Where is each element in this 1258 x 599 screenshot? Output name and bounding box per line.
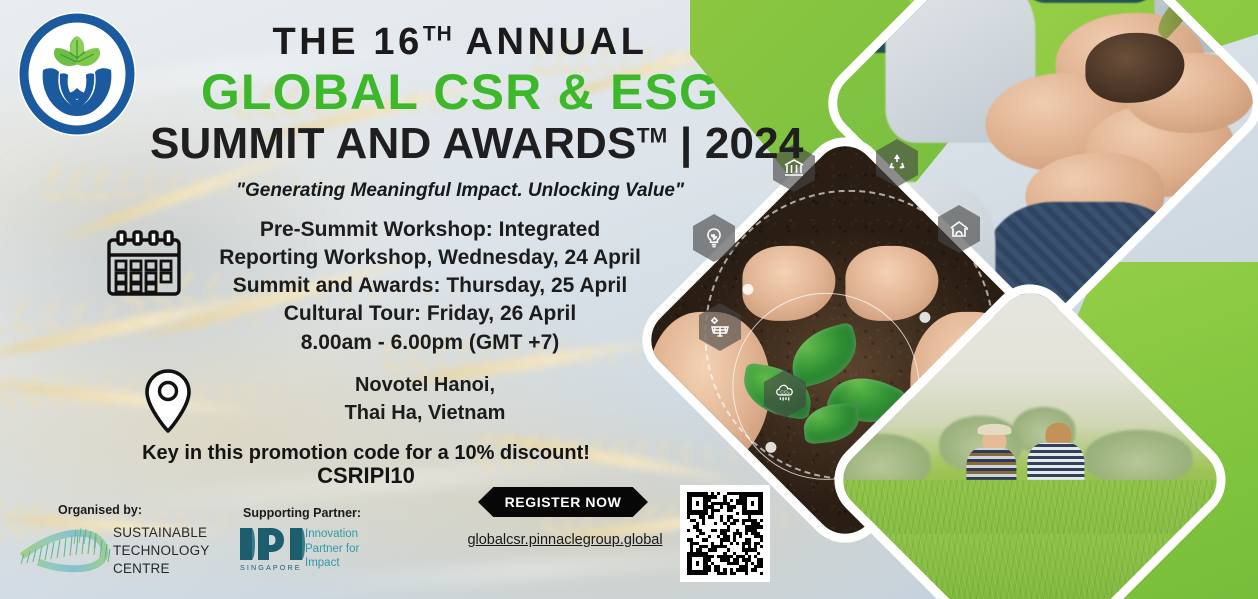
promotion-code: CSRIPI10	[110, 463, 622, 489]
pretitle-text: THE 16	[272, 21, 422, 63]
calendar-icon	[100, 228, 188, 300]
ipi-tagline-line-1: Innovation	[305, 527, 359, 542]
qr-module	[702, 532, 705, 535]
qr-module	[736, 542, 739, 545]
organiser-name-line-3: CENTRE	[113, 560, 210, 578]
qr-module	[760, 538, 763, 541]
qr-module	[760, 565, 763, 568]
svg-text:SINGAPORE: SINGAPORE	[240, 563, 302, 572]
qr-module	[702, 522, 705, 525]
title-year: | 2024	[667, 119, 803, 168]
qr-module	[696, 535, 699, 538]
schedule-line-4: Cultural Tour: Friday, 26 April	[190, 300, 670, 328]
qr-module	[687, 529, 690, 532]
location-pin-icon	[140, 368, 196, 434]
qr-module	[711, 555, 714, 558]
qr-module	[727, 548, 730, 551]
qr-module	[705, 538, 708, 541]
qr-module	[720, 505, 723, 508]
event-tagline: "Generating Meaningful Impact. Unlocking…	[150, 180, 770, 202]
qr-module	[714, 495, 717, 498]
ipi-tagline-line-3: Impact	[305, 556, 359, 571]
qr-module	[708, 568, 711, 571]
schedule-line-2: Reporting Workshop, Wednesday, 24 April	[190, 244, 670, 272]
hands-and-leaves-emblem	[16, 10, 138, 138]
venue-line-1: Novotel Hanoi,	[225, 372, 625, 400]
trademark-mark: TM	[637, 125, 668, 148]
qr-module	[717, 492, 720, 495]
schedule-line-5: 8.00am - 6.00pm (GMT +7)	[190, 329, 670, 357]
ipi-tagline: Innovation Partner for Impact	[305, 527, 359, 571]
qr-module	[736, 519, 739, 522]
qr-code[interactable]	[680, 485, 770, 582]
qr-module	[760, 519, 763, 522]
register-now-button[interactable]: REGISTER NOW	[478, 487, 648, 517]
pretitle-ordinal: TH	[423, 22, 453, 45]
qr-module	[714, 529, 717, 532]
qr-module	[745, 532, 748, 535]
qr-module	[745, 572, 748, 575]
qr-module	[760, 572, 763, 575]
event-title-green: GLOBAL CSR & ESG	[150, 64, 770, 120]
venue-block: Novotel Hanoi, Thai Ha, Vietnam	[225, 372, 625, 427]
qr-module	[754, 568, 757, 571]
event-title-block: THE 16TH ANNUAL GLOBAL CSR & ESG SUMMIT …	[150, 22, 770, 169]
supporting-partner-label: Supporting Partner:	[243, 506, 361, 520]
qr-module	[739, 535, 742, 538]
qr-module	[733, 572, 736, 575]
organised-by-label: Organised by:	[58, 503, 142, 517]
schedule-block: Pre-Summit Workshop: Integrated Reportin…	[190, 216, 670, 357]
organiser-name: SUSTAINABLE TECHNOLOGY CENTRE	[113, 524, 210, 577]
qr-module	[687, 552, 708, 575]
organiser-name-line-1: SUSTAINABLE	[113, 524, 210, 542]
qr-module	[760, 545, 763, 548]
qr-module	[742, 492, 763, 515]
title-main-text: SUMMIT AND AWARDS	[150, 119, 637, 168]
qr-module	[717, 509, 720, 512]
event-website-link[interactable]: globalcsr.pinnaclegroup.global	[440, 532, 690, 548]
venue-line-2: Thai Ha, Vietnam	[225, 400, 625, 428]
qr-module	[730, 542, 733, 545]
ipi-tagline-line-2: Partner for	[305, 542, 359, 557]
qr-module	[708, 535, 711, 538]
organiser-name-line-2: TECHNOLOGY	[113, 542, 210, 560]
event-title-main: SUMMIT AND AWARDSTM | 2024	[150, 120, 770, 168]
qr-module	[714, 548, 717, 551]
schedule-line-3: Summit and Awards: Thursday, 25 April	[190, 272, 670, 300]
qr-module	[723, 572, 726, 575]
schedule-line-1: Pre-Summit Workshop: Integrated	[190, 216, 670, 244]
qr-module	[757, 552, 760, 555]
qr-module	[730, 509, 733, 512]
qr-module	[727, 529, 730, 532]
register-button-label: REGISTER NOW	[505, 494, 622, 510]
pretitle-rest: ANNUAL	[453, 21, 648, 63]
qr-module	[714, 522, 717, 525]
event-promo-banner: (function(){ // generate fern leaflets a…	[0, 0, 1258, 599]
event-pretitle: THE 16TH ANNUAL	[150, 22, 770, 62]
qr-module	[736, 512, 739, 515]
qr-module	[730, 499, 733, 502]
qr-module	[733, 505, 736, 508]
qr-module	[687, 492, 708, 515]
qr-module	[711, 515, 714, 518]
qr-module	[733, 522, 736, 525]
qr-module	[760, 525, 763, 528]
svg-text:CO₂: CO₂	[780, 390, 789, 396]
